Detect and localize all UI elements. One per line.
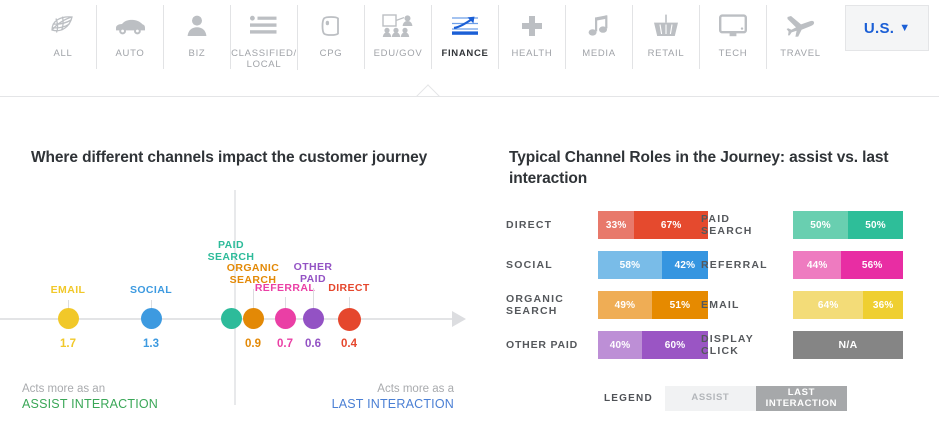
bar-row: DISPLAYCLICK N/A <box>701 331 903 359</box>
monitor-icon <box>713 11 753 41</box>
nav-tab-label: HEALTH <box>512 48 553 59</box>
nav-tab-cpg[interactable]: CPG <box>298 5 365 69</box>
chart-center-gridline <box>234 190 236 405</box>
bar-segment-assist: 64% <box>793 291 863 319</box>
bar-segment-last: 56% <box>841 251 903 279</box>
assist-interaction-note: Acts more as an ASSIST INTERACTION <box>22 382 158 412</box>
assist-note-line2: ASSIST INTERACTION <box>22 397 158 412</box>
point-label-email: EMAIL <box>28 285 108 297</box>
bar-label-direct: DIRECT <box>506 219 598 232</box>
point-dot-referral[interactable] <box>275 308 296 329</box>
point-value-direct: 0.4 <box>319 338 379 350</box>
nav-tab-travel[interactable]: TRAVEL <box>767 5 834 69</box>
country-selector[interactable]: U.S. ▼ <box>845 5 929 51</box>
bar-row: REFERRAL 44% 56% <box>701 251 903 279</box>
point-label-paid-search: PAIDSEARCH <box>186 240 276 263</box>
bar-label-paid-search: PAIDSEARCH <box>701 213 793 238</box>
nav-tab-auto[interactable]: AUTO <box>97 5 164 69</box>
plus-cross-icon <box>512 11 552 41</box>
bottle-icon <box>311 11 351 41</box>
bar-track-organic-search[interactable]: 49% 51% <box>598 291 708 319</box>
growth-chart-icon <box>445 11 485 41</box>
nav-tab-finance[interactable]: FINANCE <box>432 5 499 69</box>
nav-tab-label: ALL <box>53 48 72 59</box>
airplane-icon <box>781 11 821 41</box>
nav-tab-label: CPG <box>320 48 343 59</box>
music-note-icon <box>579 11 619 41</box>
country-selector-label: U.S. <box>864 20 894 37</box>
bar-row: PAIDSEARCH 50% 50% <box>701 211 903 239</box>
nav-tab-label: TRAVEL <box>780 48 820 59</box>
point-dot-paid-search[interactable] <box>221 308 242 329</box>
shopping-basket-icon <box>646 11 686 41</box>
bar-segment-assist: 49% <box>598 291 652 319</box>
left-panel-title: Where different channels impact the cust… <box>31 147 431 168</box>
nav-tab-retail[interactable]: RETAIL <box>633 5 700 69</box>
point-dot-social[interactable] <box>141 308 162 329</box>
chart-legend: LEGEND ASSIST LASTINTERACTION <box>604 386 847 411</box>
last-note-line1: Acts more as a <box>260 382 454 397</box>
last-interaction-note: Acts more as a LAST INTERACTION <box>260 382 454 412</box>
chevron-down-icon: ▼ <box>899 22 910 34</box>
bar-row: SOCIAL 58% 42% <box>506 251 708 279</box>
bar-label-referral: REFERRAL <box>701 259 793 272</box>
nav-tab-media[interactable]: MEDIA <box>566 5 633 69</box>
nav-tab-label: AUTO <box>115 48 144 59</box>
bar-row: OTHER PAID 40% 60% <box>506 331 708 359</box>
bar-track-paid-search[interactable]: 50% 50% <box>793 211 903 239</box>
bar-segment-assist: 33% <box>598 211 634 239</box>
legend-title: LEGEND <box>604 393 653 404</box>
bar-track-referral[interactable]: 44% 56% <box>793 251 903 279</box>
bar-segment-assist: 44% <box>793 251 841 279</box>
top-navigation-bar: ALL AUTO BIZ <box>0 0 939 88</box>
bar-label-other-paid: OTHER PAID <box>506 339 598 352</box>
point-dot-direct[interactable] <box>338 308 361 331</box>
bar-row: ORGANICSEARCH 49% 51% <box>506 291 708 319</box>
bar-segment-assist: 58% <box>598 251 662 279</box>
point-value-email: 1.7 <box>38 338 98 350</box>
bar-label-social: SOCIAL <box>506 259 598 272</box>
bar-segment-last: 60% <box>642 331 708 359</box>
point-label-direct: DIRECT <box>309 283 389 295</box>
bar-track-email[interactable]: 64% 36% <box>793 291 903 319</box>
bar-track-direct[interactable]: 33% 67% <box>598 211 708 239</box>
nav-tab-label: MEDIA <box>582 48 616 59</box>
nav-tab-health[interactable]: HEALTH <box>499 5 566 69</box>
bar-segment-last: 36% <box>863 291 903 319</box>
active-tab-pointer <box>416 80 446 96</box>
legend-chip-last-interaction[interactable]: LASTINTERACTION <box>756 386 847 411</box>
bar-track-display-click[interactable]: N/A <box>793 331 903 359</box>
globe-grid-icon <box>43 11 83 41</box>
bar-row: DIRECT 33% 67% <box>506 211 708 239</box>
nav-tab-label: EDU/GOV <box>374 48 423 59</box>
bar-track-social[interactable]: 58% 42% <box>598 251 708 279</box>
bar-row: EMAIL 64% 36% <box>701 291 903 319</box>
nav-tab-biz[interactable]: BIZ <box>164 5 231 69</box>
right-panel-title: Typical Channel Roles in the Journey: as… <box>509 147 929 189</box>
bar-segment-last: 51% <box>652 291 708 319</box>
nav-tab-label: FINANCE <box>441 48 488 59</box>
point-dot-organic-search[interactable] <box>243 308 264 329</box>
nav-tab-edu-gov[interactable]: EDU/GOV <box>365 5 432 69</box>
point-dot-email[interactable] <box>58 308 79 329</box>
nav-divider <box>0 96 939 97</box>
legend-chip-assist[interactable]: ASSIST <box>665 386 756 411</box>
point-label-social: SOCIAL <box>111 285 191 297</box>
bar-label-email: EMAIL <box>701 299 793 312</box>
bar-segment-last: 67% <box>634 211 708 239</box>
last-note-line2: LAST INTERACTION <box>260 397 454 412</box>
bar-segment-assist: 40% <box>598 331 642 359</box>
nav-tab-label: CLASSIFIED/LOCAL <box>231 48 297 70</box>
nav-tab-label: BIZ <box>189 48 206 59</box>
bar-label-display-click: DISPLAYCLICK <box>701 333 793 358</box>
bar-track-other-paid[interactable]: 40% 60% <box>598 331 708 359</box>
person-icon <box>177 11 217 41</box>
education-people-icon <box>378 11 418 41</box>
bar-segment-last: 50% <box>848 211 903 239</box>
nav-tab-label: TECH <box>719 48 748 59</box>
nav-tab-all[interactable]: ALL <box>30 5 97 69</box>
nav-tab-classified-local[interactable]: CLASSIFIED/LOCAL <box>231 5 298 70</box>
car-icon <box>110 11 150 41</box>
nav-tab-tech[interactable]: TECH <box>700 5 767 69</box>
nav-tab-label: RETAIL <box>648 48 685 59</box>
bar-segment-assist: 50% <box>793 211 848 239</box>
industry-tab-list: ALL AUTO BIZ <box>30 5 834 70</box>
list-icon <box>244 11 284 41</box>
axis-arrow-icon <box>452 311 466 327</box>
point-dot-other-paid[interactable] <box>303 308 324 329</box>
point-value-social: 1.3 <box>121 338 181 350</box>
bar-label-organic-search: ORGANICSEARCH <box>506 293 598 318</box>
assist-note-line1: Acts more as an <box>22 382 158 397</box>
channel-roles-bar-chart: DIRECT 33% 67% SOCIAL 58% 42% ORGANICSEA… <box>500 190 939 437</box>
